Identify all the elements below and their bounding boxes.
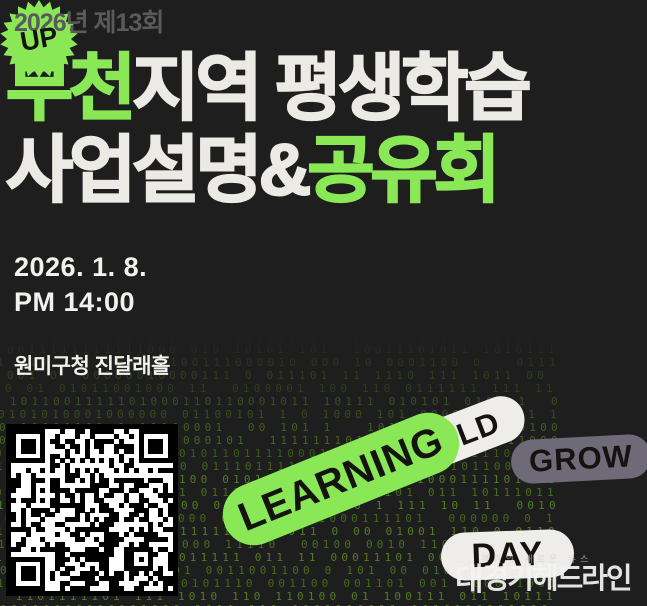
title-segment-white-2: 사업설명& — [6, 130, 307, 211]
badge-day-label: DAY — [471, 534, 544, 575]
title-segment-white-1: 지역 평생학습 — [132, 48, 527, 129]
event-venue: 원미구청 진달래홀 — [14, 350, 170, 380]
badge-learning-label: LEARNING — [232, 418, 450, 541]
event-date: 2026. 1. 8. — [14, 250, 147, 285]
title-segment-green-2: 공유회 — [307, 130, 496, 211]
qr-code-inner — [11, 429, 173, 591]
badge-grow: GROW — [510, 433, 647, 484]
qr-code[interactable] — [6, 424, 178, 596]
qr-code-image — [11, 429, 173, 591]
event-datetime: 2026. 1. 8. PM 14:00 — [14, 250, 147, 319]
badge-learning: LEARNING — [213, 403, 468, 554]
poster-title-line-1: 부천지역 평생학습 — [6, 52, 528, 125]
binary-row: 01 0010 0001101 10 1 11111110100110 1001… — [0, 330, 647, 343]
badge-up-label: UP — [0, 0, 84, 84]
event-poster: 01 0010 0001101 10 1 11111110100110 1001… — [0, 0, 647, 606]
event-time: PM 14:00 — [14, 285, 147, 320]
binary-row: 0101010001000000 01100101 1 0 1000 101 0… — [0, 408, 647, 421]
binary-row: 1011001111101000110110001011 10111 01010… — [0, 395, 647, 408]
badge-grow-label: GROW — [528, 438, 634, 479]
badge-day: DAY — [440, 529, 575, 582]
badge-up: UP — [0, 0, 78, 78]
binary-row: 00 01 01011001000 11 0100001 100 110 011… — [0, 382, 647, 395]
poster-title-line-2: 사업설명&공유회 — [6, 134, 497, 207]
